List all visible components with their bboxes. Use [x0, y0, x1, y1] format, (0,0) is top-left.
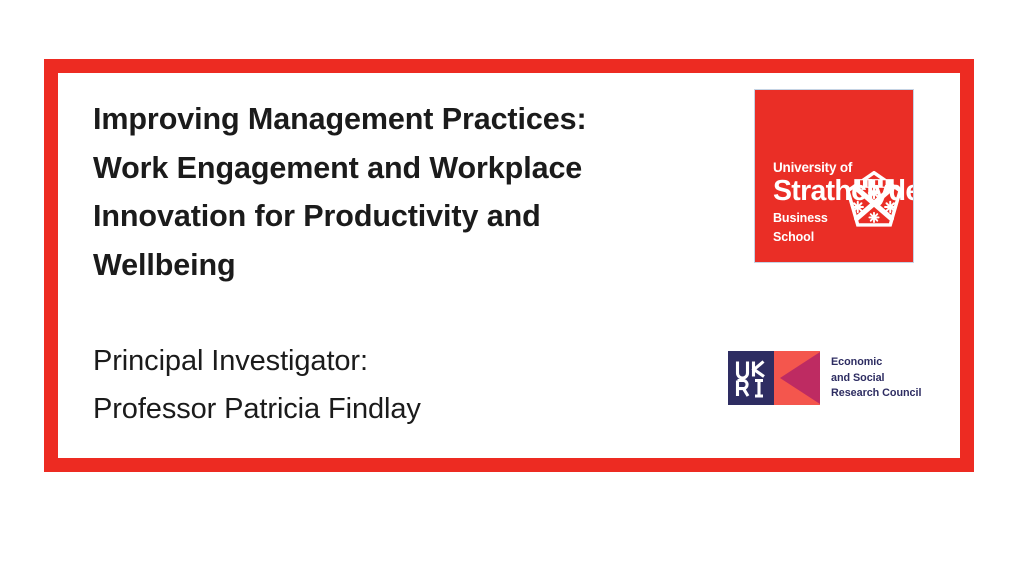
ukri-esrc-logo: Economic and Social Research Council	[728, 351, 933, 405]
strathclyde-logo: University of Strathclyde Business Schoo…	[755, 90, 913, 262]
esrc-line-2: and Social	[831, 371, 936, 387]
subtitle-line-name: Professor Patricia Findlay	[93, 385, 693, 433]
strathclyde-faculty-line-1: Business	[773, 211, 905, 226]
title-line-4: Wellbeing	[93, 241, 693, 290]
strathclyde-university-label: University of	[773, 160, 905, 175]
strathclyde-name: Strathclyde	[773, 176, 905, 207]
ukri-mark-icon	[728, 351, 820, 405]
esrc-line-3: Research Council	[831, 386, 936, 402]
subtitle-line-role: Principal Investigator:	[93, 337, 693, 385]
strathclyde-faculty-line-2: School	[773, 230, 905, 245]
slide-canvas: Improving Management Practices: Work Eng…	[0, 0, 1024, 576]
title-line-1: Improving Management Practices:	[93, 95, 693, 144]
title-line-2: Work Engagement and Workplace	[93, 144, 693, 193]
esrc-line-1: Economic	[831, 355, 936, 371]
ukri-chevron-icon	[774, 351, 820, 405]
principal-investigator-block: Principal Investigator: Professor Patric…	[93, 337, 693, 433]
strathclyde-wordmark: University of Strathclyde Business Schoo…	[773, 160, 905, 244]
title-line-3: Innovation for Productivity and	[93, 192, 693, 241]
ukri-coral-block	[774, 351, 820, 405]
esrc-wordmark: Economic and Social Research Council	[831, 355, 936, 402]
page-title: Improving Management Practices: Work Eng…	[93, 95, 693, 289]
ukri-lettermark-icon	[728, 351, 774, 405]
